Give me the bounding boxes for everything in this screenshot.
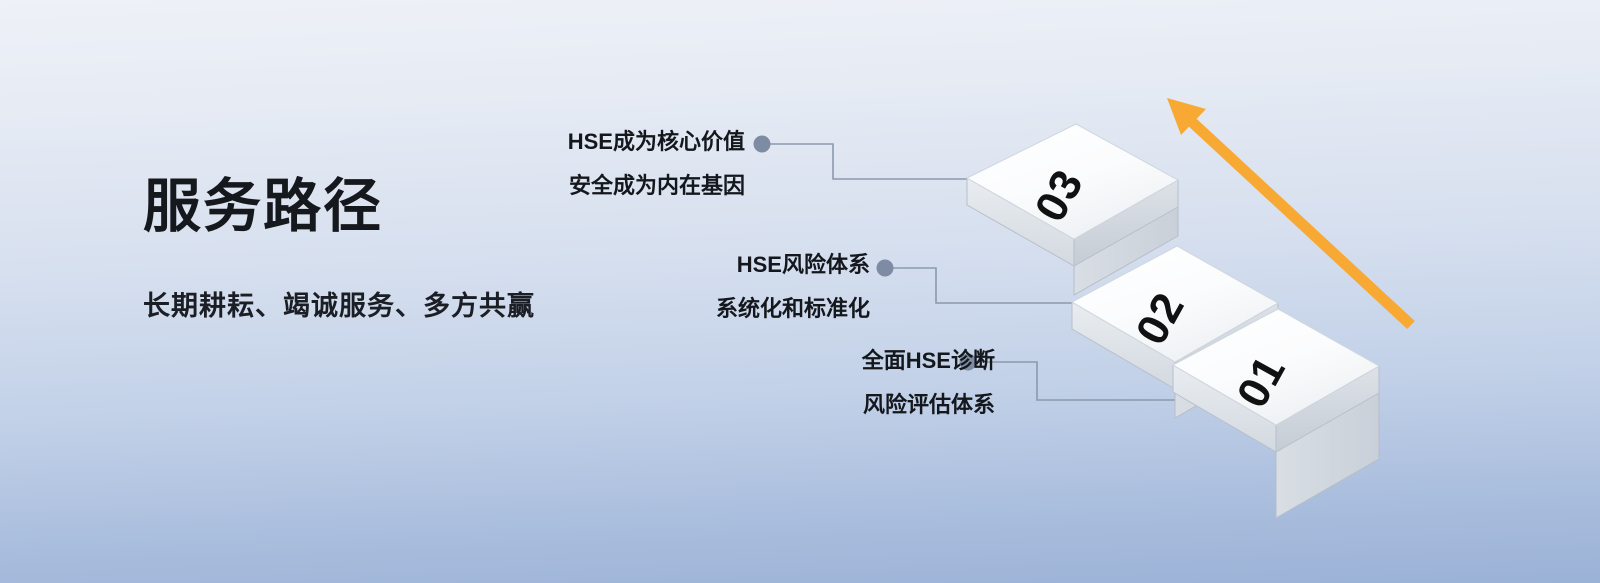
step-02-right-face [1175,303,1278,389]
connector-dot-02 [877,260,894,277]
callout-step-03-line-1: HSE成为核心价值 [420,131,745,153]
step-02-top-face [1072,246,1278,362]
step-01-left-face [1173,365,1276,452]
connector-line-03 [770,144,985,179]
callout-step-01-line-1: 全面HSE诊断 [670,350,995,372]
callout-step-03-line-2: 安全成为内在基因 [420,175,745,197]
callout-step-03[interactable]: HSE成为核心价值 安全成为内在基因 [420,131,745,197]
step-03-riser [1074,180,1178,295]
step-block-02[interactable]: 02 [1072,246,1278,418]
step-02-number: 02 [1127,284,1195,352]
upward-growth-arrow [1167,98,1411,325]
callout-step-02-line-1: HSE风险体系 [545,254,870,276]
step-block-03[interactable]: 03 [967,124,1178,295]
arrow-head-icon [1167,98,1206,135]
slide-canvas: 03 02 01 [0,0,1600,583]
step-01-right-face [1276,366,1379,452]
step-01-number: 01 [1228,347,1296,415]
step-03-left-face [967,178,1074,266]
callout-step-01[interactable]: 全面HSE诊断 风险评估体系 [670,350,995,416]
arrow-shaft-icon [1192,122,1411,325]
connector-line-02 [893,268,1095,303]
callout-step-02[interactable]: HSE风险体系 系统化和标准化 [545,254,870,320]
connector-dot-03 [754,136,771,153]
step-02-riser [1175,303,1278,418]
connector-line-01 [976,362,1205,400]
step-03-top-face [967,124,1178,239]
step-01-riser [1276,366,1379,518]
step-02-left-face [1072,302,1175,389]
step-01-top-face [1173,309,1379,425]
callout-step-01-line-2: 风险评估体系 [670,394,995,416]
step-03-number: 03 [1026,161,1094,229]
step-03-right-face [1074,180,1178,266]
step-block-01[interactable]: 01 [1173,309,1379,518]
callout-step-02-line-2: 系统化和标准化 [545,298,870,320]
